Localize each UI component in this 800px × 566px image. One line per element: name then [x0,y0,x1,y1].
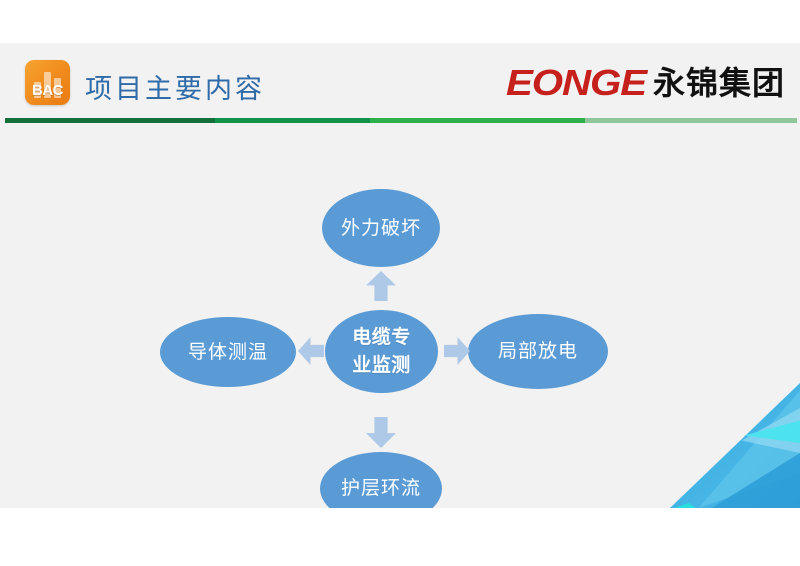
diagram-node-top-label: 外力破坏 [341,216,421,241]
arrow-down-icon [366,417,396,448]
page-title: 项目主要内容 [85,67,265,106]
monitoring-diagram: 外力破坏 导体测温 局部放电 护层环流 电缆专业监测 [0,121,800,508]
diagram-node-bottom: 护层环流 [320,452,442,508]
diagram-node-center-label: 电缆专业监测 [352,324,411,380]
diagram-node-center: 电缆专业监测 [325,310,438,393]
center-label-line1: 电缆专 [352,327,411,348]
diagram-node-left-label: 导体测温 [188,340,268,365]
arrow-up-icon [366,271,396,301]
slide-header: BAC 项目主要内容 EONGE 永锦集团 [0,43,800,121]
company-logo-chinese: 永锦集团 [653,66,785,100]
slide-canvas: BAC 项目主要内容 EONGE 永锦集团 外力破坏 导体测温 局部放电 护层环… [0,43,800,508]
center-label-line2: 业监测 [352,355,411,376]
diagram-node-right: 局部放电 [468,314,608,389]
arrow-right-icon [444,337,470,365]
diagram-node-left: 导体测温 [160,317,296,387]
diagram-node-right-label: 局部放电 [498,339,578,364]
arrow-left-icon [298,337,324,365]
company-logo: EONGE 永锦集团 [506,62,785,104]
bac-chart-icon: BAC [25,60,70,105]
diagram-node-bottom-label: 护层环流 [341,476,421,501]
badge-label: BAC [25,83,70,98]
diagram-node-top: 外力破坏 [322,189,440,267]
company-logo-latin: EONGE [506,64,646,102]
